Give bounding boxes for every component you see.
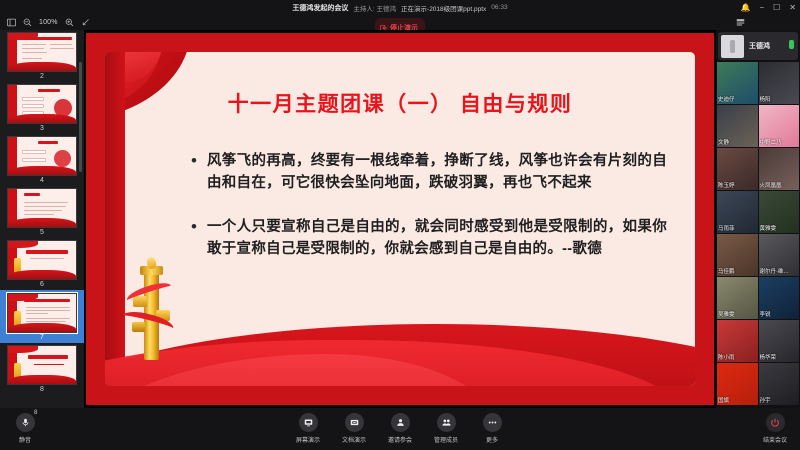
more-dots-icon — [483, 413, 502, 432]
slide-title: 十一月主题团课（一） 自由与规则 — [105, 88, 695, 118]
document-share-label: 文档演示 — [342, 435, 366, 444]
layout-button[interactable] — [736, 15, 745, 30]
participant-name: 谢尔丹·维… — [760, 267, 799, 275]
thumbnail-preview — [7, 84, 77, 124]
toolbar-left-group: 100% — [7, 15, 90, 30]
document-share-button[interactable]: 文档演示 — [337, 413, 371, 444]
mic-count-badge: 8 — [34, 410, 37, 416]
more-button[interactable]: 更多 — [475, 413, 509, 444]
thumbnail-slide-3[interactable]: 3 — [0, 82, 84, 134]
participant-name: 李锐 — [760, 310, 799, 318]
participant-name: 史迪仔 — [718, 95, 757, 103]
presentation-toolbar: 100% 停止演示 — [0, 15, 800, 30]
meeting-title: 王德鸿发起的会议 — [292, 3, 348, 13]
screen-share-icon — [299, 413, 318, 432]
participant-name: 杨阳 — [760, 95, 799, 103]
zoom-out-icon[interactable] — [23, 18, 32, 27]
participant-name: 马雨菲 — [718, 224, 757, 232]
document-share-icon — [345, 413, 364, 432]
participant-tile[interactable]: 李锐 — [759, 277, 800, 319]
thumbnail-number: 5 — [7, 228, 77, 238]
participant-name: 孙宇 — [760, 396, 799, 404]
participant-tile[interactable]: 史迪仔 — [717, 62, 758, 104]
thumbnail-preview — [7, 345, 77, 385]
invite-person-icon — [391, 413, 410, 432]
meeting-bottom-bar: 静音 8 屏幕演示 文档演示 邀请参会 — [0, 408, 800, 450]
meeting-host-label: 主持人: 王德鸿 — [353, 3, 396, 13]
bullet-text: 一个人只要宣称自己是自由的，就会同时感受到他是受限制的，如果你敢于宣称自己是受限… — [207, 216, 667, 260]
screen-share-label: 屏幕演示 — [296, 435, 320, 444]
thumbnail-slide-2[interactable]: 2 — [0, 30, 84, 82]
mute-button[interactable]: 静音 — [5, 413, 45, 444]
thumbnail-number: 8 — [7, 385, 77, 395]
bullet-marker-icon: • — [191, 150, 197, 194]
thumbnail-preview — [7, 240, 77, 280]
slide-content-area: 十一月主题团课（一） 自由与规则 • 风筝飞的再高，终要有一根线牵着，挣断了线，… — [105, 52, 695, 386]
bullet-item: • 一个人只要宣称自己是自由的，就会同时感受到他是受限制的，如果你敢于宣称自己是… — [191, 216, 667, 260]
power-end-icon — [766, 413, 785, 432]
thumbnail-preview — [7, 188, 77, 228]
thumbnail-preview-current — [7, 293, 77, 333]
thumbnail-number: 6 — [7, 280, 77, 290]
invite-label: 邀请参会 — [388, 435, 412, 444]
close-icon[interactable]: ✕ — [789, 4, 796, 12]
thumbnail-scrollbar[interactable] — [79, 62, 82, 172]
more-label: 更多 — [486, 435, 498, 444]
layout-icon — [736, 18, 745, 27]
invite-button[interactable]: 邀请参会 — [383, 413, 417, 444]
window-controls: 🔔 − ☐ ✕ — [740, 0, 796, 15]
participant-tile[interactable]: 杨阳 — [759, 62, 800, 104]
tencent-meeting-window: 王德鸿发起的会议 主持人: 王德鸿 正在演示-2018级团课ppt.pptx 0… — [0, 0, 800, 450]
participant-tile[interactable]: 中野二乃 — [759, 105, 800, 147]
participant-name: 国旗 — [718, 396, 757, 404]
participant-grid: 史迪仔杨阳文静中野二乃陈玉婷火凤凰凰马雨菲黄雅雯马佳鹏谢尔丹·维…吴雅雯李锐陈小… — [716, 62, 800, 405]
presentation-stage: 十一月主题团课（一） 自由与规则 • 风筝飞的再高，终要有一根线牵着，挣断了线，… — [84, 30, 716, 408]
participant-name: 中野二乃 — [760, 138, 799, 146]
meeting-timer: 06:33 — [491, 4, 507, 11]
participant-name: 马佳鹏 — [718, 267, 757, 275]
end-meeting-label: 结束会议 — [763, 435, 787, 444]
participant-tile[interactable]: 文静 — [717, 105, 758, 147]
participant-name: 王德鸿 — [749, 41, 770, 51]
participant-name: 文静 — [718, 138, 757, 146]
bullet-text: 风筝飞的再高，终要有一根线牵着，挣断了线，风筝也许会有片刻的自由和自在，可它很快… — [207, 150, 667, 194]
thumbnail-slide-5[interactable]: 5 — [0, 186, 84, 238]
thumbnail-number: 2 — [7, 72, 77, 82]
thumbnail-number: 7 — [7, 333, 77, 343]
participant-name: 陈玉婷 — [718, 181, 757, 189]
participant-name: 陈小雨 — [718, 353, 757, 361]
presenting-file-label: 正在演示-2018级团课ppt.pptx — [401, 3, 486, 13]
participant-tile[interactable]: 吴雅雯 — [717, 277, 758, 319]
slide-bullet-list: • 风筝飞的再高，终要有一根线牵着，挣断了线，风筝也许会有片刻的自由和自在，可它… — [191, 150, 667, 282]
participant-panel[interactable]: 王德鸿 史迪仔杨阳文静中野二乃陈玉婷火凤凰凰马雨菲黄雅雯马佳鹏谢尔丹·维…吴雅雯… — [716, 30, 800, 408]
bullet-marker-icon: • — [191, 216, 197, 260]
mic-active-icon — [789, 40, 794, 49]
thumbnail-slide-7[interactable]: 7 — [0, 290, 84, 343]
participant-name: 吴雅雯 — [718, 310, 757, 318]
participant-name: 黄雅雯 — [760, 224, 799, 232]
microphone-icon — [16, 413, 35, 432]
participant-tile[interactable]: 孙宇 — [759, 363, 800, 405]
participant-tile[interactable]: 马雨菲 — [717, 191, 758, 233]
thumbnail-preview — [7, 136, 77, 176]
participant-tile[interactable]: 陈小雨 — [717, 320, 758, 362]
participant-tile[interactable]: 杨华荣 — [759, 320, 800, 362]
title-bar-center: 王德鸿发起的会议 主持人: 王德鸿 正在演示-2018级团课ppt.pptx 0… — [292, 3, 507, 13]
bottom-center-actions: 屏幕演示 文档演示 邀请参会 管理成员 — [291, 413, 509, 444]
minimize-icon[interactable]: − — [759, 4, 764, 12]
bullet-item: • 风筝飞的再高，终要有一根线牵着，挣断了线，风筝也许会有片刻的自由和自在，可它… — [191, 150, 667, 194]
participant-tile[interactable]: 陈玉婷 — [717, 148, 758, 190]
thumbnail-number: 3 — [7, 124, 77, 134]
manage-members-button[interactable]: 管理成员 — [429, 413, 463, 444]
participant-tile[interactable]: 谢尔丹·维… — [759, 234, 800, 276]
participant-name: 火凤凰凰 — [760, 181, 799, 189]
golden-torch-monument-icon — [132, 258, 172, 364]
current-slide: 十一月主题团课（一） 自由与规则 • 风筝飞的再高，终要有一根线牵着，挣断了线，… — [86, 33, 714, 405]
end-meeting-button[interactable]: 结束会议 — [755, 413, 795, 444]
slide-thumbnail-panel[interactable]: 2 3 4 — [0, 30, 84, 408]
thumbnail-slide-4[interactable]: 4 — [0, 134, 84, 186]
thumbnail-slide-8[interactable]: 8 — [0, 343, 84, 395]
participant-tile[interactable]: 黄雅雯 — [759, 191, 800, 233]
manage-members-label: 管理成员 — [434, 435, 458, 444]
participant-name: 杨华荣 — [760, 353, 799, 361]
manage-members-icon — [437, 413, 456, 432]
fit-to-screen-icon[interactable] — [81, 18, 90, 27]
sidebar-panel-icon[interactable] — [7, 18, 16, 27]
mute-label: 静音 — [19, 435, 31, 444]
thumbnail-slide-6[interactable]: 6 — [0, 238, 84, 290]
thumbnail-preview — [7, 32, 77, 72]
participant-tile[interactable]: 火凤凰凰 — [759, 148, 800, 190]
avatar — [721, 35, 744, 58]
bell-icon[interactable]: 🔔 — [740, 4, 750, 12]
screen-share-button[interactable]: 屏幕演示 — [291, 413, 325, 444]
maximize-icon[interactable]: ☐ — [773, 4, 780, 12]
participant-tile-host[interactable]: 王德鸿 — [718, 32, 798, 60]
thumbnail-number: 4 — [7, 176, 77, 186]
zoom-level-label: 100% — [39, 19, 58, 26]
participant-tile[interactable]: 国旗 — [717, 363, 758, 405]
title-bar: 王德鸿发起的会议 主持人: 王德鸿 正在演示-2018级团课ppt.pptx 0… — [0, 0, 800, 15]
zoom-in-icon[interactable] — [65, 18, 74, 27]
participant-tile[interactable]: 马佳鹏 — [717, 234, 758, 276]
